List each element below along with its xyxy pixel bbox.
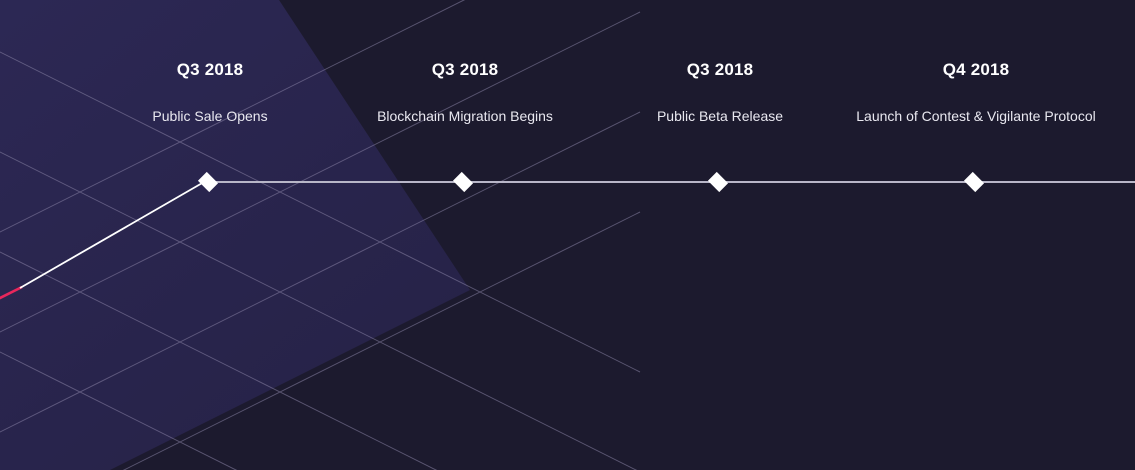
timeline-axis bbox=[210, 181, 1135, 183]
milestone-diamond-marker[interactable] bbox=[198, 172, 218, 192]
milestone-diamond-marker[interactable] bbox=[964, 172, 984, 192]
milestone-title-label: Blockchain Migration Begins bbox=[345, 106, 585, 127]
milestone-diamond-marker[interactable] bbox=[453, 172, 473, 192]
milestone-title-label: Public Sale Opens bbox=[90, 106, 330, 127]
milestone-quarter-label: Q3 2018 bbox=[90, 60, 330, 80]
milestone-title-label: Public Beta Release bbox=[600, 106, 840, 127]
roadmap-timeline-section: Q3 2018 Public Sale Opens Q3 2018 Blockc… bbox=[0, 0, 1135, 470]
milestone-diamond-marker[interactable] bbox=[708, 172, 728, 192]
trend-line-accent-segment bbox=[0, 287, 22, 313]
trend-line bbox=[20, 182, 204, 288]
milestone-quarter-label: Q3 2018 bbox=[600, 60, 840, 80]
background-plane-shadow bbox=[0, 300, 120, 470]
milestone-quarter-label: Q4 2018 bbox=[856, 60, 1096, 80]
milestone-title-label: Launch of Contest & Vigilante Protocol bbox=[856, 106, 1096, 127]
milestone-quarter-label: Q3 2018 bbox=[345, 60, 585, 80]
